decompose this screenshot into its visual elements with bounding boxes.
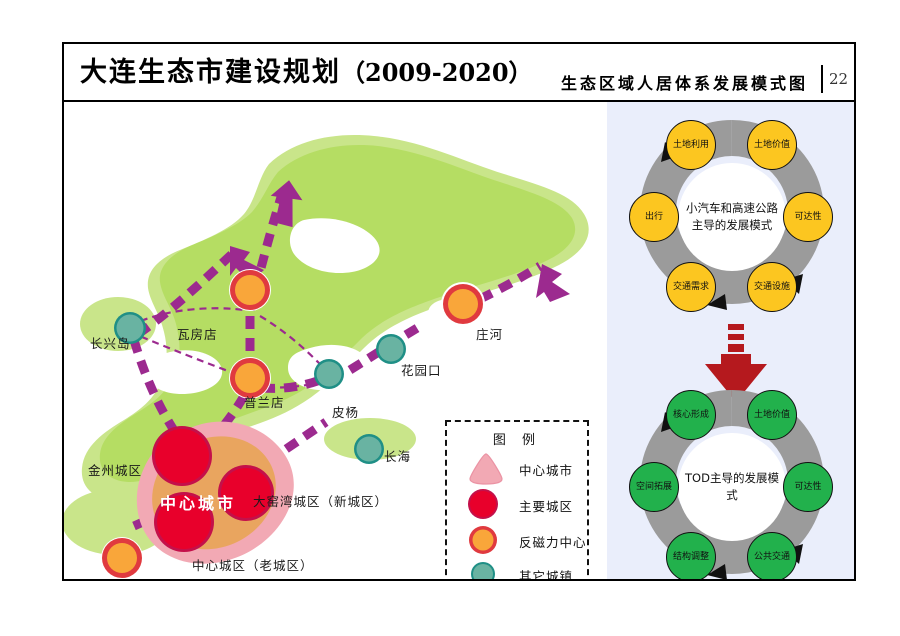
map-label-huayuankou: 花园口 [401,360,442,379]
legend-red-circle-icon [467,488,501,520]
node-travel[interactable]: 出行 [629,192,679,242]
node-public-transit[interactable]: 公共交通 [747,532,797,579]
legend-label-other-town: 其它城镇 [519,566,573,579]
legend-item-center-city: 中心城市 [447,452,587,486]
poster-frame: 大连生态市建设规划（2009-2020） 生态区域人居体系发展模式图 22 [62,42,856,581]
map-label-zhongxinchengqu: 中心城区（老城区） [192,555,314,574]
legend-label-major-district: 主要城区 [519,496,573,515]
diagram-tod-model[interactable]: TOD主导的发展模式 核心形成 土地价值 可达性 公共交通 结构调整 空间拓展 [617,384,847,579]
legend-teal-circle-icon [467,558,501,579]
page-number: 22 [821,65,854,93]
node-accessibility-tod[interactable]: 可达性 [783,462,833,512]
legend-label-center-city: 中心城市 [519,460,573,479]
node-accessibility[interactable]: 可达性 [783,192,833,242]
content-area: 长兴岛 瓦房店 普兰店 皮杨 花园口 庄河 长海 金州城区 大窑湾城区（新城区）… [64,102,854,579]
node-spatial-expansion[interactable]: 空间拓展 [629,462,679,512]
node-transport-facility[interactable]: 交通设施 [747,262,797,312]
map-pane[interactable]: 长兴岛 瓦房店 普兰店 皮杨 花园口 庄河 长海 金州城区 大窑湾城区（新城区）… [64,102,607,579]
page-title-cn: 大连生态市建设规划 [80,57,341,88]
node-land-use[interactable]: 土地利用 [666,120,716,170]
map-label-piyang: 皮杨 [332,402,359,421]
legend-box: 图 例 中心城市 主要城区 反磁力 [445,420,589,579]
legend-pink-triangle-icon [467,452,501,484]
legend-orange-circle-icon [467,524,501,556]
map-label-wafangdian: 瓦房店 [177,324,218,343]
node-transport-demand[interactable]: 交通需求 [666,262,716,312]
node-land-value-tod[interactable]: 土地价值 [747,390,797,440]
map-label-changxingdao: 长兴岛 [90,333,131,352]
legend-label-counter-magnet: 反磁力中心 [519,532,587,551]
ring-center-label-tod: TOD主导的发展模式 [678,433,786,541]
diagram-car-highway-model[interactable]: 小汽车和高速公路主导的发展模式 土地利用 土地价值 可达性 交通设施 交通需求 … [617,114,847,319]
map-label-zhuanghe: 庄河 [476,324,503,343]
page-title-years: （2009-2020） [341,58,533,87]
map-label-pulandian: 普兰店 [244,392,285,411]
legend-item-counter-magnet: 反磁力中心 [447,524,587,558]
legend-item-other-town: 其它城镇 [447,558,587,579]
map-label-center-city: 中心城市 [160,490,236,514]
diagram-pane[interactable]: 小汽车和高速公路主导的发展模式 土地利用 土地价值 可达性 交通设施 交通需求 … [607,102,854,579]
node-land-value[interactable]: 土地价值 [747,120,797,170]
map-label-changhai: 长海 [384,446,411,465]
page-title: 大连生态市建设规划（2009-2020） [80,50,533,89]
ring-center-label-car: 小汽车和高速公路主导的发展模式 [678,163,786,271]
map-label-jinzhou: 金州城区 [88,460,142,479]
node-core-formation[interactable]: 核心形成 [666,390,716,440]
legend-title: 图 例 [447,429,587,448]
subtitle: 生态区域人居体系发展模式图 [561,70,808,94]
legend-item-major-district: 主要城区 [447,488,587,522]
node-structural-adjust[interactable]: 结构调整 [666,532,716,579]
map-label-dayaowan: 大窑湾城区（新城区） [253,491,388,510]
